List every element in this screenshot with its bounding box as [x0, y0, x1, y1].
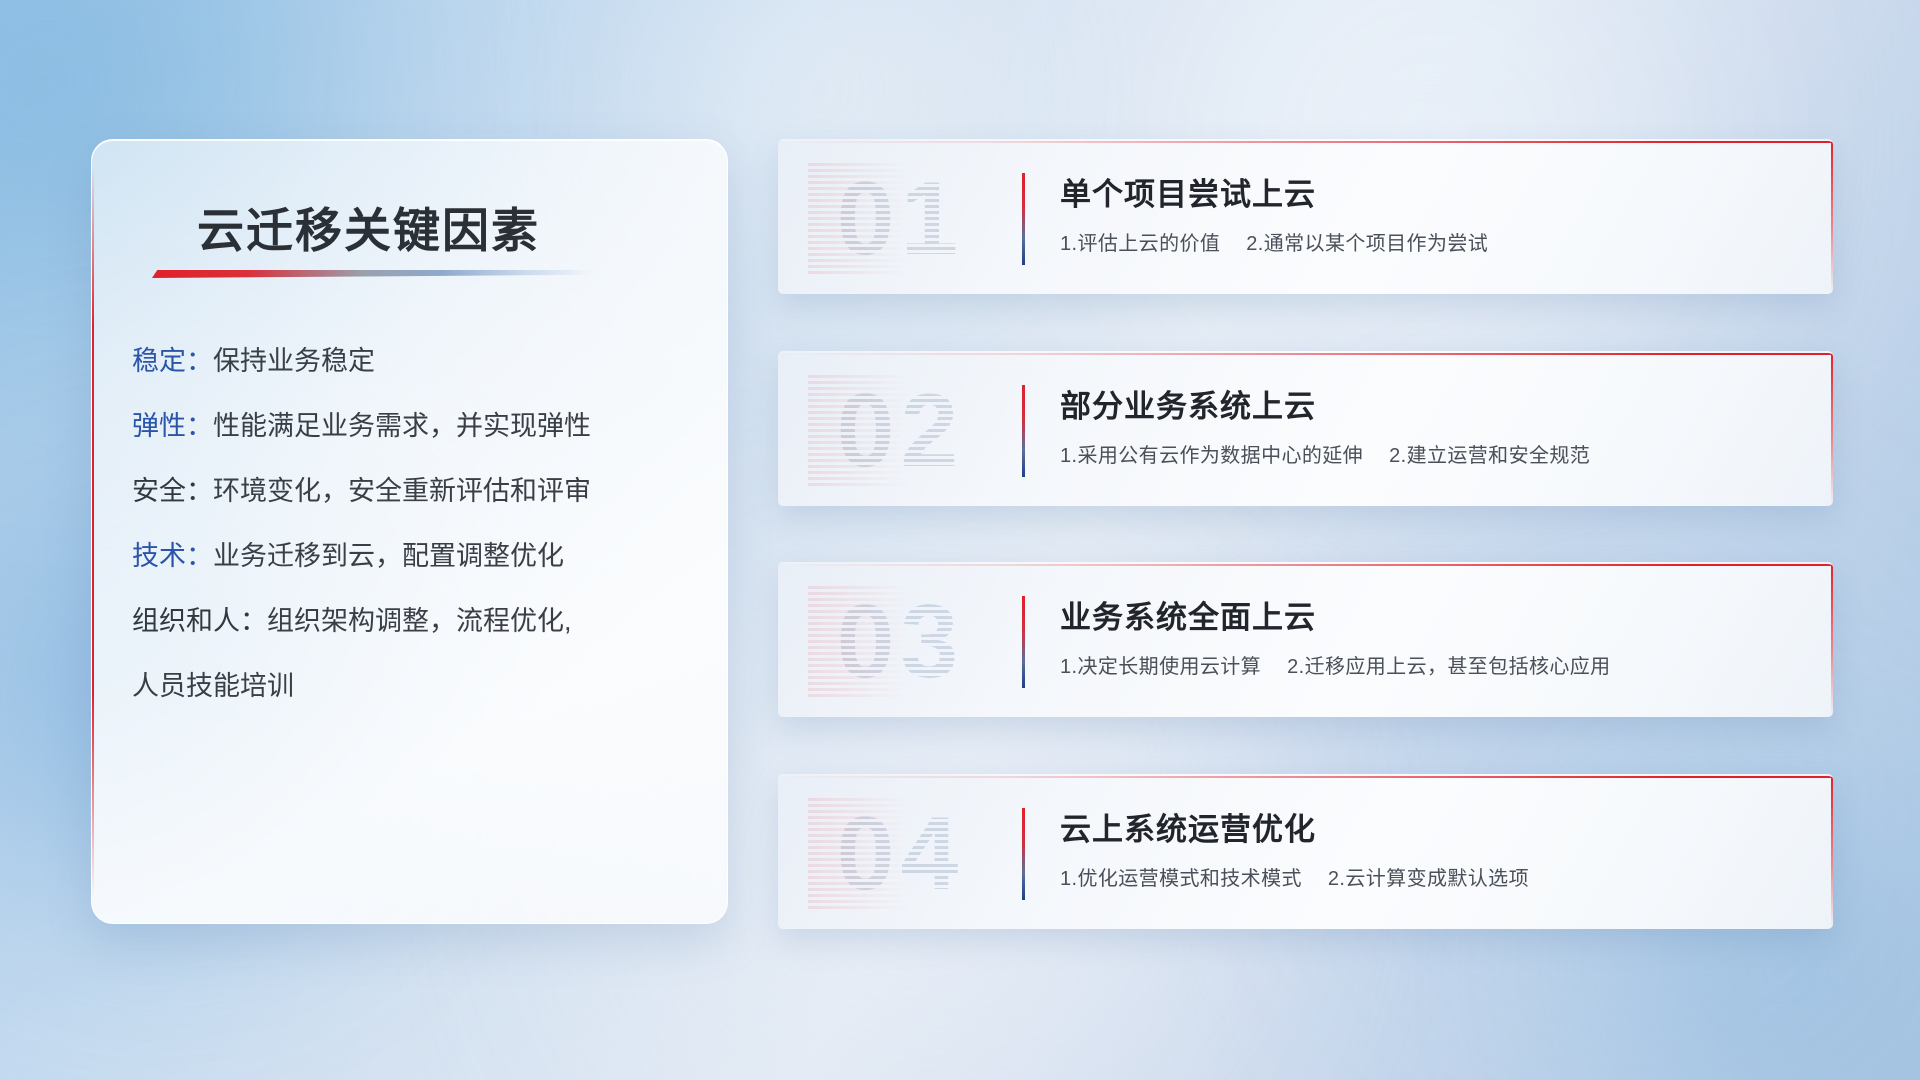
- stage-card-03[interactable]: 03 业务系统全面上云 1.决定长期使用云计算2.迁移应用上云，甚至包括核心应用: [778, 562, 1833, 717]
- list-item: 安全： 环境变化，安全重新评估和评审: [132, 478, 699, 505]
- stage-description-part-2: 2.迁移应用上云，甚至包括核心应用: [1287, 656, 1610, 678]
- list-item-key: 弹性：: [132, 413, 213, 440]
- title-underline-accent: [152, 270, 592, 278]
- stage-description-part-2: 2.建立运营和安全规范: [1389, 445, 1590, 467]
- stage-number: 02: [808, 375, 993, 487]
- list-item-key: 稳定：: [132, 348, 213, 375]
- list-item-continuation: 人员技能培训: [132, 673, 699, 700]
- list-item-key: 组织和人：: [132, 608, 267, 635]
- stage-description-part-2: 2.云计算变成默认选项: [1328, 868, 1529, 890]
- stage-description-part-1: 1.评估上云的价值: [1060, 233, 1220, 255]
- list-item-key: 技术：: [132, 543, 213, 570]
- list-item-value: 业务迁移到云，配置调整优化: [213, 543, 564, 570]
- stage-divider-accent: [1022, 596, 1025, 688]
- list-item-value: 环境变化，安全重新评估和评审: [213, 478, 591, 505]
- stage-title: 云上系统运营优化: [1060, 804, 1316, 849]
- stage-number: 01: [808, 163, 993, 275]
- stage-description-part-2: 2.通常以某个项目作为尝试: [1246, 233, 1488, 255]
- stage-card-01[interactable]: 01 单个项目尝试上云 1.评估上云的价值2.通常以某个项目作为尝试: [778, 139, 1833, 294]
- stage-description-part-1: 1.采用公有云作为数据中心的延伸: [1060, 445, 1363, 467]
- stage-description: 1.采用公有云作为数据中心的延伸2.建立运营和安全规范: [1060, 439, 1590, 468]
- stage-description-part-1: 1.优化运营模式和技术模式: [1060, 868, 1302, 890]
- list-item-value: 人员技能培训: [132, 673, 294, 700]
- stage-number: 03: [808, 586, 993, 698]
- list-item-value: 组织架构调整，流程优化,: [267, 608, 572, 635]
- list-item-value: 保持业务稳定: [213, 348, 375, 375]
- page-title: 云迁移关键因素: [197, 192, 540, 261]
- stage-title: 业务系统全面上云: [1060, 592, 1316, 637]
- key-factors-list: 稳定： 保持业务稳定 弹性： 性能满足业务需求，并实现弹性 安全： 环境变化，安…: [132, 348, 699, 700]
- stage-divider-accent: [1022, 173, 1025, 265]
- slide-stage: 云迁移关键因素 稳定： 保持业务稳定 弹性： 性能满足业务需求，并实现弹性 安全…: [0, 0, 1920, 1080]
- list-item: 稳定： 保持业务稳定: [132, 348, 699, 375]
- stage-title: 部分业务系统上云: [1060, 381, 1316, 426]
- stage-card-04[interactable]: 04 云上系统运营优化 1.优化运营模式和技术模式2.云计算变成默认选项: [778, 774, 1833, 929]
- stage-description: 1.优化运营模式和技术模式2.云计算变成默认选项: [1060, 862, 1529, 891]
- stage-divider-accent: [1022, 385, 1025, 477]
- stage-description: 1.决定长期使用云计算2.迁移应用上云，甚至包括核心应用: [1060, 650, 1611, 679]
- stage-card-02[interactable]: 02 部分业务系统上云 1.采用公有云作为数据中心的延伸2.建立运营和安全规范: [778, 351, 1833, 506]
- stage-number: 04: [808, 798, 993, 910]
- stage-title: 单个项目尝试上云: [1060, 169, 1316, 214]
- stage-description-part-1: 1.决定长期使用云计算: [1060, 656, 1261, 678]
- stage-description: 1.评估上云的价值2.通常以某个项目作为尝试: [1060, 227, 1488, 256]
- list-item: 组织和人： 组织架构调整，流程优化,: [132, 608, 699, 635]
- list-item: 弹性： 性能满足业务需求，并实现弹性: [132, 413, 699, 440]
- list-item-value: 性能满足业务需求，并实现弹性: [213, 413, 591, 440]
- list-item-key: 安全：: [132, 478, 213, 505]
- list-item: 技术： 业务迁移到云，配置调整优化: [132, 543, 699, 570]
- key-factors-panel: 云迁移关键因素 稳定： 保持业务稳定 弹性： 性能满足业务需求，并实现弹性 安全…: [91, 139, 728, 924]
- stage-divider-accent: [1022, 808, 1025, 900]
